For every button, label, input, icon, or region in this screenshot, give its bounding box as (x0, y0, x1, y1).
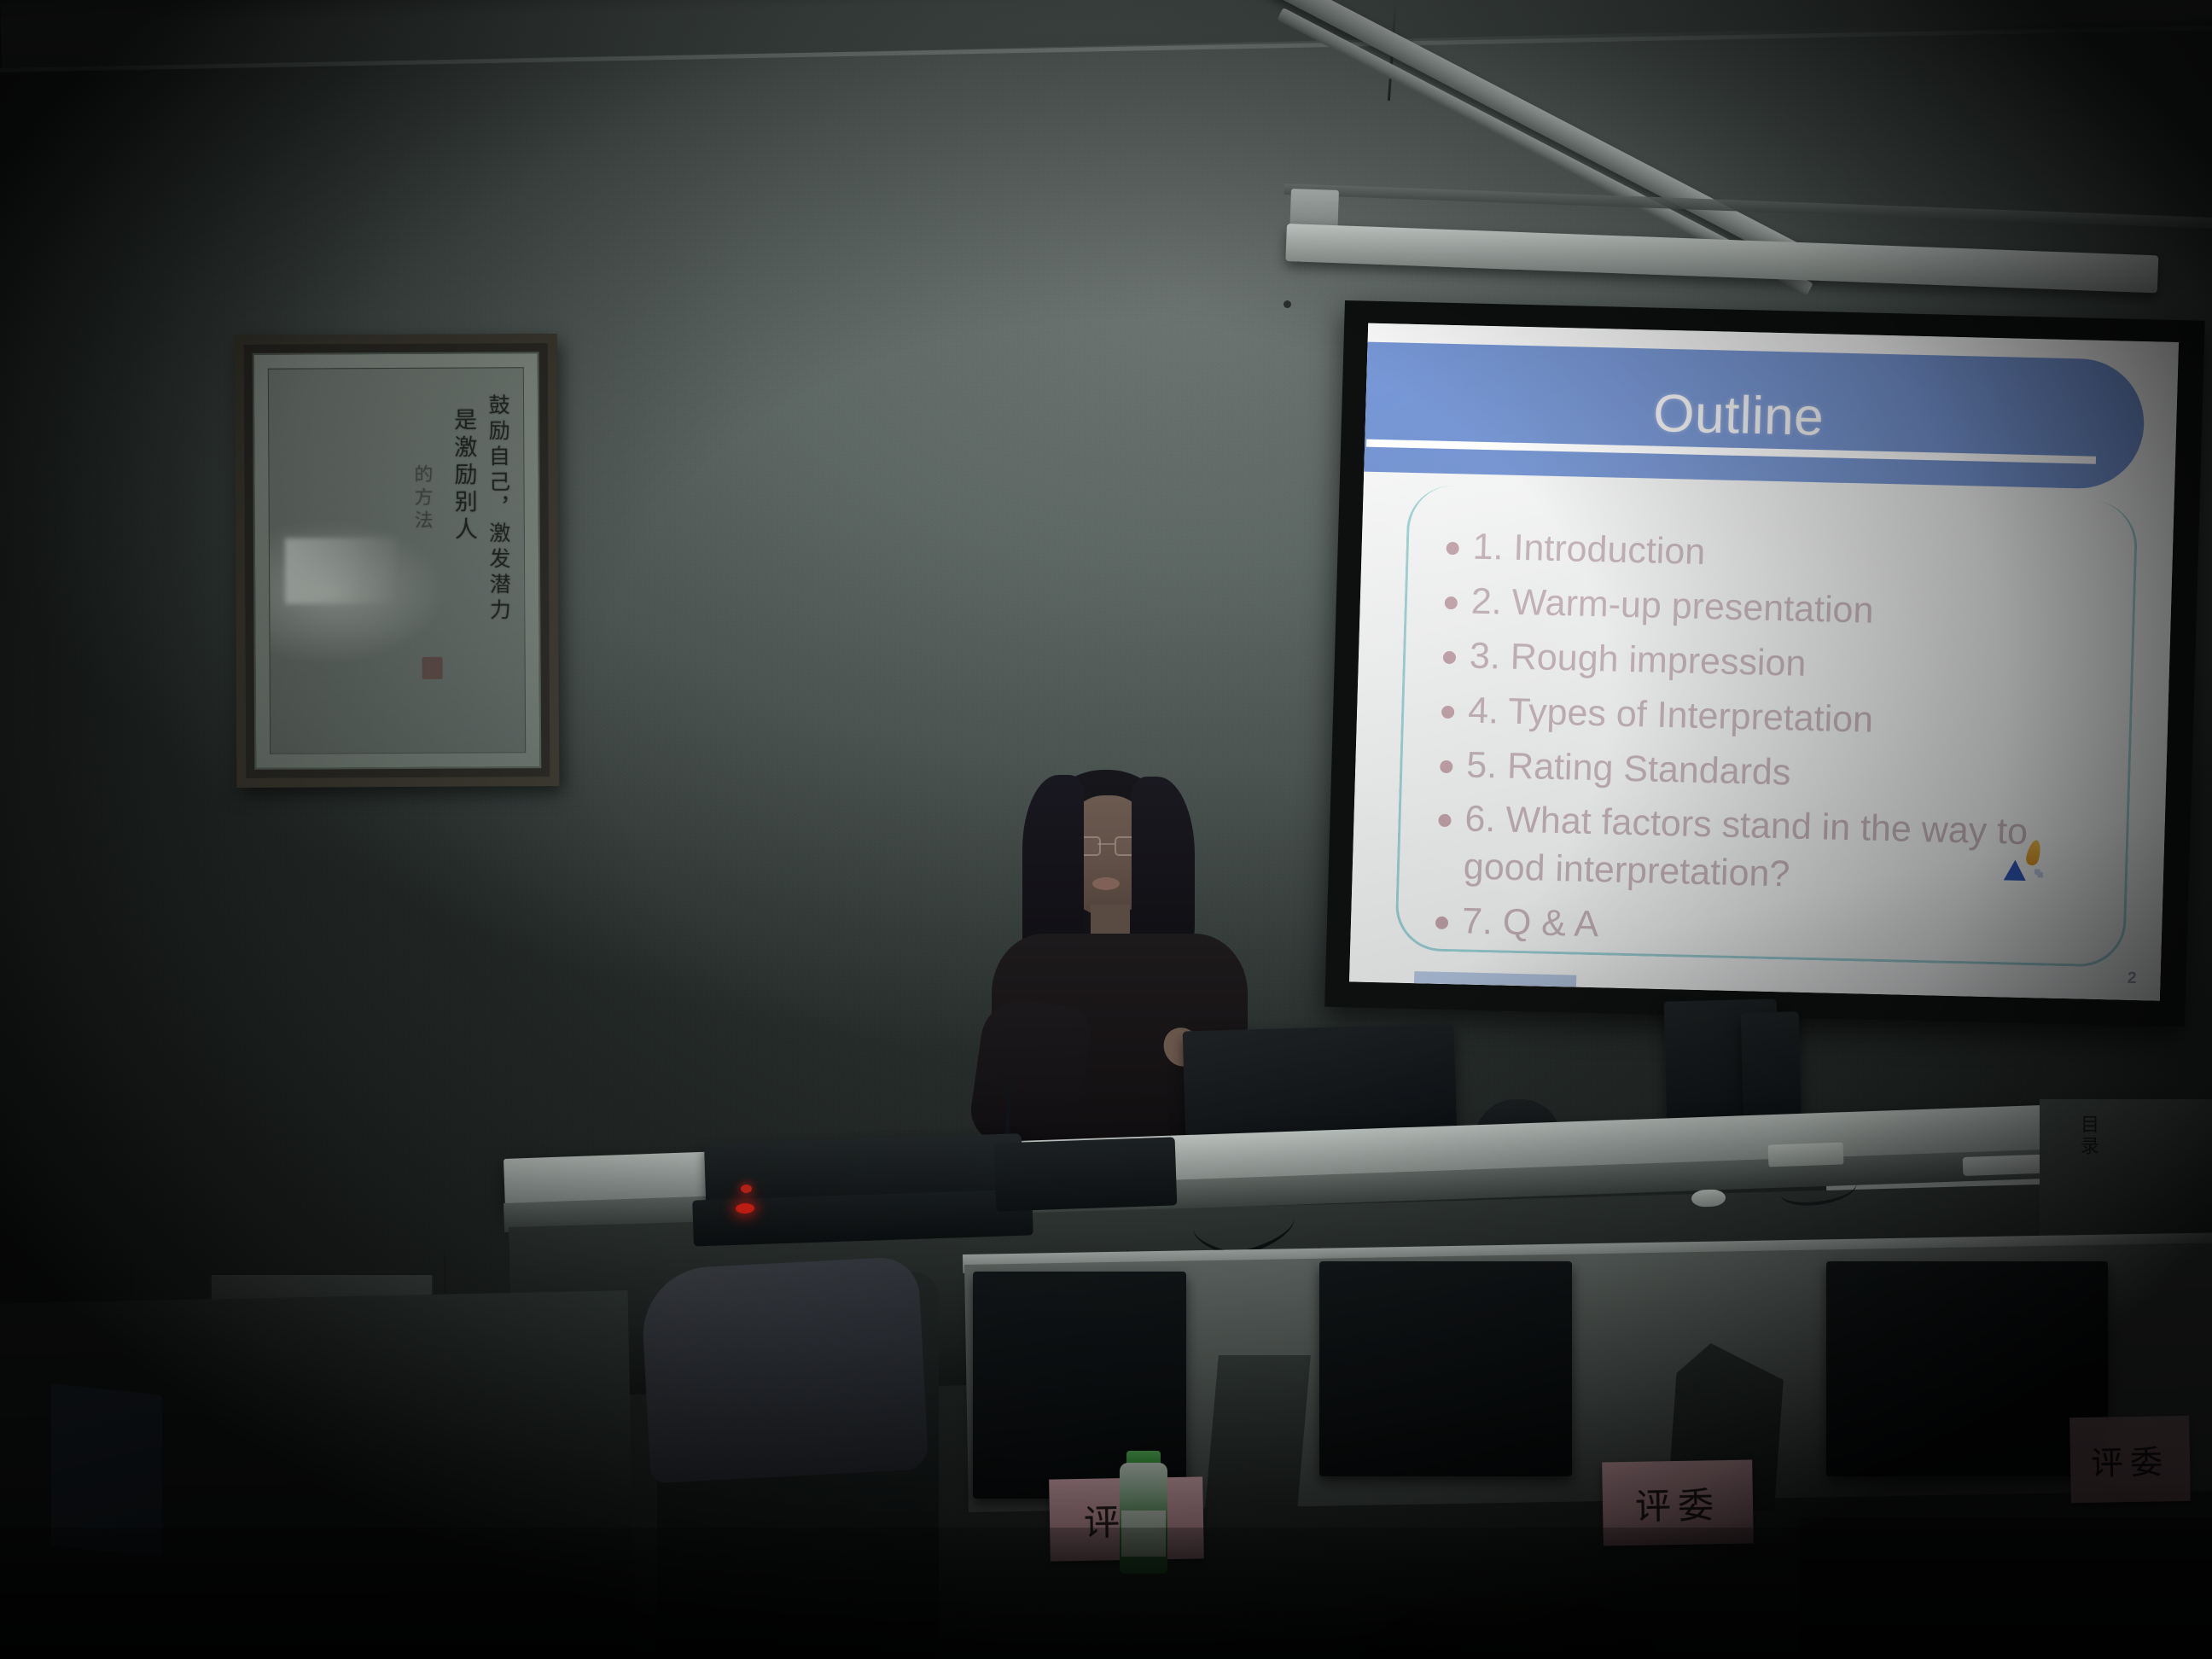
slide-decoration-icon (2004, 839, 2044, 881)
calligraphy-column-2: 是激励别人 (450, 408, 476, 544)
draped-coat (640, 1256, 929, 1484)
bullet-dot-icon (1441, 705, 1454, 718)
sparkle-icon (2034, 869, 2043, 877)
list-item: 7. Q & A (1435, 898, 2104, 961)
slide-header: Outline (1364, 342, 2178, 491)
projection-screen: Outline 1. Introduction 2. Warm-up prese… (1324, 300, 2205, 1027)
bullet-text: 5. Rating Standards (1466, 742, 2110, 805)
bullet-text: 2. Warm-up presentation (1470, 578, 2114, 641)
presenter-mouth (1092, 877, 1120, 890)
list-item: 1. Introduction (1446, 523, 2116, 586)
slide-bullet-list: 1. Introduction 2. Warm-up presentation … (1435, 523, 2116, 968)
list-item: 2. Warm-up presentation (1444, 578, 2114, 641)
screen-surface: Outline 1. Introduction 2. Warm-up prese… (1349, 323, 2179, 1001)
bullet-dot-icon (1435, 917, 1448, 929)
bullet-dot-icon (1438, 814, 1451, 827)
bullet-text: 1. Introduction (1472, 524, 2116, 587)
framed-calligraphy-artwork: 鼓励自己，激发潜力 是激励别人 的方法 (235, 334, 560, 788)
calligraphy-column-3: 的方法 (410, 464, 432, 533)
cabinet-label: 目录 (2074, 1115, 2101, 1157)
list-item: 5. Rating Standards (1440, 741, 2110, 804)
foreground-shadow (0, 1528, 2212, 1659)
triangle-icon (2004, 859, 2027, 881)
judge-sign-right: 评委 (2069, 1416, 2191, 1503)
glasses-bridge (1097, 843, 1115, 845)
list-item: 4. Types of Interpretation (1441, 686, 2110, 749)
presenter-arm (967, 995, 1093, 1154)
power-led-icon (741, 1185, 752, 1193)
calligraphy-paper: 鼓励自己，激发潜力 是激励别人 的方法 (268, 367, 526, 754)
slide-body: 1. Introduction 2. Warm-up presentation … (1394, 485, 2138, 968)
student-monitor-3 (1826, 1261, 2108, 1476)
classroom-photo-scene: 鼓励自己，激发潜力 是激励别人 的方法 Runco Outline (0, 0, 2212, 1659)
flame-icon (2024, 839, 2043, 867)
bullet-text: 7. Q & A (1461, 899, 2104, 962)
list-item: 3. Rough impression (1442, 632, 2112, 696)
bullet-dot-icon (1440, 760, 1452, 772)
bullet-dot-icon (1445, 597, 1458, 609)
bullet-dot-icon (1443, 651, 1456, 664)
student-monitor-2 (1319, 1261, 1572, 1476)
powerpoint-slide: Outline 1. Introduction 2. Warm-up prese… (1349, 323, 2179, 1001)
calligraphy-column-1: 鼓励自己，激发潜力 (486, 393, 510, 624)
bullet-text: 3. Rough impression (1469, 632, 2112, 696)
glass-glare (285, 538, 398, 603)
av-console-box (994, 1137, 1178, 1211)
calligraphy-seal-icon (422, 657, 443, 679)
slide-page-number: 2 (2128, 969, 2137, 988)
student-pc-tower-1 (1205, 1355, 1311, 1509)
wall-screw-icon (1284, 300, 1291, 308)
bullet-dot-icon (1446, 542, 1458, 555)
bullet-text: 4. Types of Interpretation (1467, 687, 2110, 750)
keyboard (1768, 1142, 1844, 1167)
